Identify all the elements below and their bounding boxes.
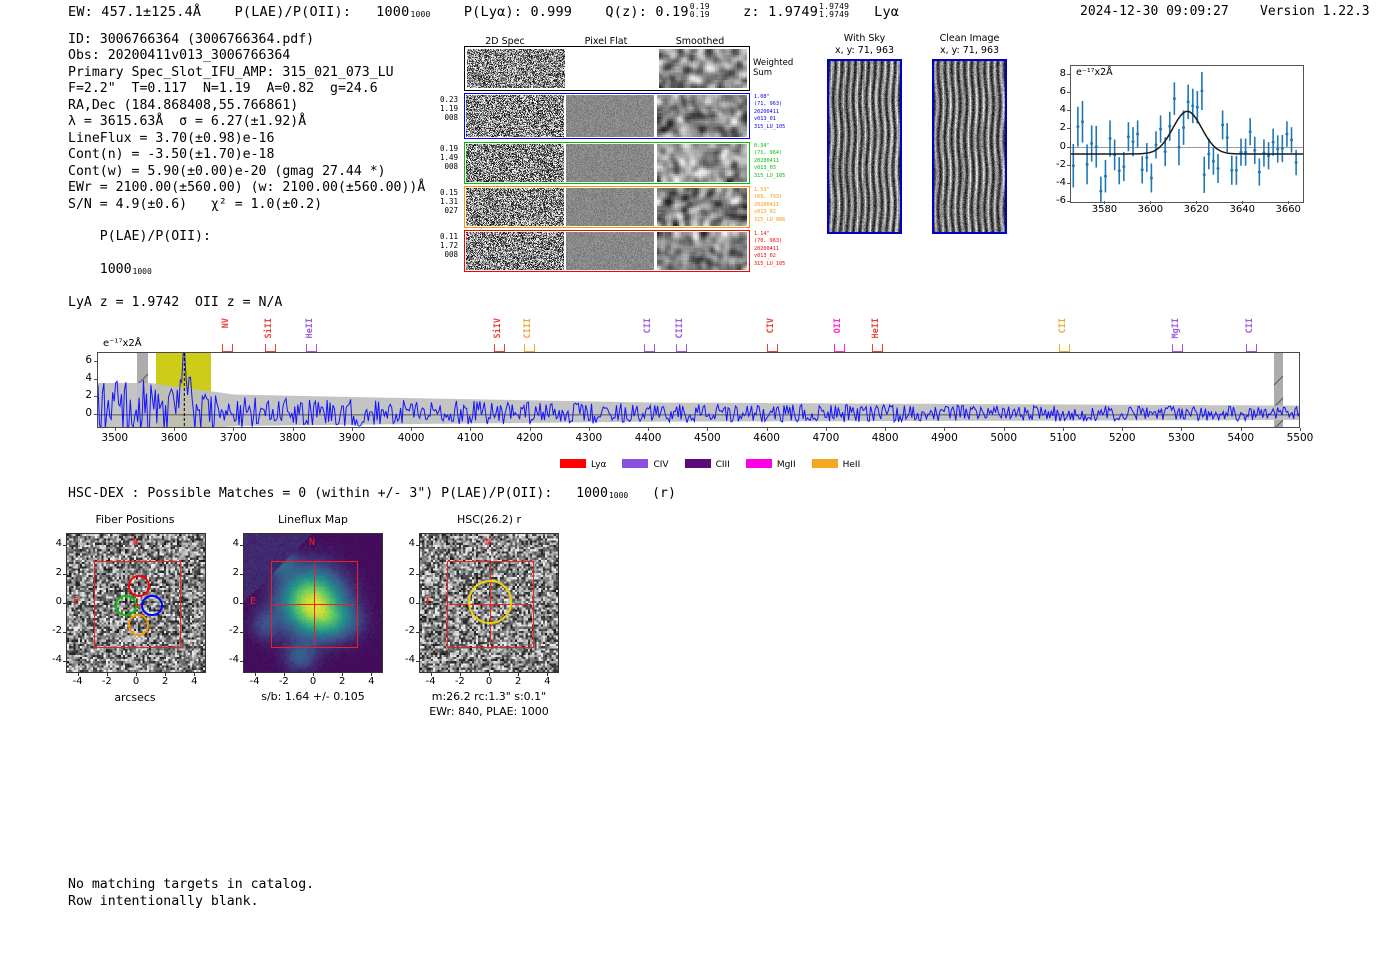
header-plae-label: P(LAE)/P(OII): bbox=[235, 4, 352, 20]
hscdex-filter: (r) bbox=[652, 486, 676, 501]
emission-line-label-SiII-1: SiII bbox=[264, 318, 274, 338]
hscdex-title-text: HSC-DEX : Possible Matches = 0 (within +… bbox=[68, 486, 552, 501]
info-plae-line: P(LAE)/P(OII): 10001000 bbox=[68, 213, 425, 295]
header-z-lo: 1.9749 bbox=[819, 10, 849, 19]
line-fit-ytick--6: -6 bbox=[1048, 195, 1066, 206]
info-plae-value: 1000 bbox=[100, 262, 132, 277]
spectrum-xtick-4600: 4600 bbox=[745, 432, 789, 444]
sky-panel-1-title: Clean Image bbox=[897, 33, 1042, 44]
spectrum-xtick-5000: 5000 bbox=[982, 432, 1026, 444]
cutout-0-xtick-0: 0 bbox=[124, 676, 148, 687]
fiber-circle-1 bbox=[115, 595, 137, 617]
hscdex-plae-value: 1000 bbox=[576, 486, 608, 501]
emission-line-label-HeII-9: HeII bbox=[871, 318, 881, 338]
emission-line-label-SiIV-3: SiIV bbox=[493, 318, 503, 338]
header-plae-value: 1000 bbox=[376, 4, 409, 20]
legend-label-MgII: MgII bbox=[777, 460, 796, 470]
cutout-1-east-label: E bbox=[250, 596, 256, 607]
line-fit-ytick--2: -2 bbox=[1048, 159, 1066, 170]
emission-line-label-MgII-11: MgII bbox=[1171, 318, 1181, 338]
cutout-1-xtick--4: -4 bbox=[243, 676, 267, 687]
spectrum-xtick-3600: 3600 bbox=[152, 432, 196, 444]
legend-item-HeII: HeII bbox=[812, 459, 861, 470]
legend-item-MgII: MgII bbox=[746, 459, 796, 470]
header-qz-lo: 0.19 bbox=[690, 10, 710, 19]
emission-line-label-CIV-7: CIV bbox=[766, 318, 776, 333]
emission-line-label-CIII-6: CIII bbox=[675, 318, 685, 338]
info-line-2: Primary Spec_Slot_IFU_AMP: 315_021_073_L… bbox=[68, 65, 425, 81]
cutout-2-east-label: E bbox=[426, 596, 432, 607]
line-fit-axes bbox=[1070, 65, 1304, 203]
info-line-4: RA,Dec (184.868408,55.766861) bbox=[68, 98, 425, 114]
legend-label-HeII: HeII bbox=[843, 460, 861, 470]
sky-panel-0-image bbox=[827, 59, 902, 234]
cutout-1-footer-0: s/b: 1.64 +/- 0.105 bbox=[213, 690, 413, 703]
spectrum-ytick-6: 6 bbox=[73, 354, 92, 366]
spec2d-row-2-info: 1.53"(69, 793)20200411v013_02315_LU_086 bbox=[754, 187, 812, 224]
cutout-1-ytick-0: 0 bbox=[221, 596, 239, 607]
info-plae-label: P(LAE)/P(OII): bbox=[100, 229, 211, 244]
emission-line-bracket-5 bbox=[644, 344, 655, 352]
line-fit-data bbox=[1071, 66, 1303, 202]
line-fit-ytick--4: -4 bbox=[1048, 177, 1066, 188]
spec2d-row-0-info: 1.08"(71, 963)20200411v013_01315_LU_105 bbox=[754, 94, 812, 131]
weighted-sum-strip bbox=[464, 46, 750, 91]
legend-item-CIII: CIII bbox=[685, 459, 730, 470]
sky-panel-1-coords: x, y: 71, 963 bbox=[897, 45, 1042, 56]
emission-line-bracket-1 bbox=[265, 344, 276, 352]
spec2d-row-1-info: 0.34"(71, 964)20200411v013_03315_LU_105 bbox=[754, 143, 812, 180]
cutout-0-xtick--4: -4 bbox=[66, 676, 90, 687]
cutout-1-ytick-4: 4 bbox=[221, 538, 239, 549]
cutout-2-footer-0: m:26.2 rc:1.3" s:0.1" bbox=[389, 690, 589, 703]
fiber-circle-0 bbox=[128, 575, 150, 597]
cutout-1-xtick-4: 4 bbox=[359, 676, 383, 687]
cutout-1-ytick--2: -2 bbox=[221, 625, 239, 636]
cutout-2-xtick-0: 0 bbox=[477, 676, 501, 687]
emission-line-label-HeII-2: HeII bbox=[305, 318, 315, 338]
sky-panel-1-image bbox=[932, 59, 1007, 234]
legend-swatch-CIV bbox=[622, 459, 648, 468]
spec2d-row-3-stats: 0.111.72008 bbox=[416, 232, 458, 260]
emission-line-label-CII-12: CII bbox=[1245, 318, 1255, 333]
cutout-0-ytick-4: 4 bbox=[44, 538, 62, 549]
spec2d-row-2 bbox=[464, 186, 750, 228]
cutout-0-image: NE bbox=[66, 533, 206, 673]
info-line-3: F=2.2" T=0.117 N=1.19 A=0.82 g=24.6 bbox=[68, 81, 425, 97]
emission-line-label-OII-8: OII bbox=[833, 318, 843, 333]
spectrum-ytick-0: 0 bbox=[73, 407, 92, 419]
header-qz: Q(z): 0.19 bbox=[605, 4, 688, 20]
line-fit-ytick-8: 8 bbox=[1048, 68, 1066, 79]
info-line-8: Cont(w) = 5.90(±0.00)e-20 (gmag 27.44 *) bbox=[68, 164, 425, 180]
emission-line-bracket-12 bbox=[1246, 344, 1257, 352]
timestamp: 2024-12-30 09:09:27 bbox=[1080, 4, 1229, 19]
cutout-0-xtick-4: 4 bbox=[182, 676, 206, 687]
bottom-note: No matching targets in catalog. Row inte… bbox=[68, 876, 314, 910]
cutout-1-title: Lineflux Map bbox=[223, 513, 403, 526]
emission-line-bracket-9 bbox=[872, 344, 883, 352]
spectrum-xtick-4800: 4800 bbox=[863, 432, 907, 444]
spectrum-xtick-3900: 3900 bbox=[330, 432, 374, 444]
spectrum-xtick-3700: 3700 bbox=[211, 432, 255, 444]
spectrum-legend: LyαCIVCIIIMgIIHeII bbox=[560, 452, 876, 471]
spectrum-xtick-5100: 5100 bbox=[1041, 432, 1085, 444]
cutout-2-ytick-4: 4 bbox=[397, 538, 415, 549]
line-fit-xtick-3640: 3640 bbox=[1224, 204, 1260, 215]
cutout-1-ytick--4: -4 bbox=[221, 654, 239, 665]
line-fit-unit-label: e⁻¹⁷x2Å bbox=[1076, 67, 1113, 78]
spectrum-xtick-4400: 4400 bbox=[626, 432, 670, 444]
emission-line-bracket-11 bbox=[1172, 344, 1183, 352]
line-fit-ytick-0: 0 bbox=[1048, 141, 1066, 152]
cutout-1-xtick-2: 2 bbox=[330, 676, 354, 687]
spectrum-xtick-4200: 4200 bbox=[508, 432, 552, 444]
emission-line-bracket-10 bbox=[1059, 344, 1070, 352]
header-line-id: Lyα bbox=[874, 4, 899, 20]
cutout-2-xtick-2: 2 bbox=[506, 676, 530, 687]
spectrum-xtick-3500: 3500 bbox=[93, 432, 137, 444]
legend-label-Lyα: Lyα bbox=[591, 460, 606, 470]
line-fit-xtick-3620: 3620 bbox=[1178, 204, 1214, 215]
cutout-0-ytick-0: 0 bbox=[44, 596, 62, 607]
cutout-0-ytick-2: 2 bbox=[44, 567, 62, 578]
header-plya: P(Lyα): 0.999 bbox=[464, 4, 572, 20]
spectrum-xtick-4100: 4100 bbox=[448, 432, 492, 444]
emission-line-bracket-0 bbox=[222, 344, 233, 352]
cutout-0-east-label: E bbox=[73, 596, 79, 607]
info-line-6: LineFlux = 3.70(±0.98)e-16 bbox=[68, 131, 425, 147]
legend-swatch-CIII bbox=[685, 459, 711, 468]
info-line-10: S/N = 4.9(±0.6) χ² = 1.0(±0.2) bbox=[68, 197, 425, 213]
spec2d-row-0 bbox=[464, 93, 750, 139]
cutout-0-title: Fiber Positions bbox=[45, 513, 225, 526]
cutout-2-xtick--4: -4 bbox=[419, 676, 443, 687]
spec2d-row-3 bbox=[464, 230, 750, 272]
cutout-2-north-label: N bbox=[485, 537, 491, 548]
cutout-1-xtick--2: -2 bbox=[272, 676, 296, 687]
spectrum-xtick-4000: 4000 bbox=[389, 432, 433, 444]
spectrum-xtick-5400: 5400 bbox=[1219, 432, 1263, 444]
emission-line-label-CII-5: CII bbox=[643, 318, 653, 333]
spec2d-row-1 bbox=[464, 142, 750, 184]
spectrum-ytick-2: 2 bbox=[73, 389, 92, 401]
line-fit-ytick-6: 6 bbox=[1048, 86, 1066, 97]
header-ew: EW: 457.1±125.4Å bbox=[68, 4, 201, 20]
cutout-1-ytick-2: 2 bbox=[221, 567, 239, 578]
bottom-note-line-0: No matching targets in catalog. bbox=[68, 876, 314, 893]
spectrum-unit-label: e⁻¹⁷x2Å bbox=[103, 338, 142, 349]
header-z: z: 1.9749 bbox=[743, 4, 818, 20]
cutout-2-ytick-0: 0 bbox=[397, 596, 415, 607]
legend-item-Lyα: Lyα bbox=[560, 459, 606, 470]
spectrum-xtick-4500: 4500 bbox=[685, 432, 729, 444]
emission-line-label-CII-10: CII bbox=[1058, 318, 1068, 333]
hsc-aperture-circle bbox=[468, 580, 511, 623]
line-fit-xtick-3580: 3580 bbox=[1086, 204, 1122, 215]
spectrum-xtick-5200: 5200 bbox=[1100, 432, 1144, 444]
spectrum-xtick-5500: 5500 bbox=[1278, 432, 1322, 444]
line-fit-plot: -6-4-20246835803600362036403660e⁻¹⁷x2Å bbox=[1036, 57, 1308, 229]
line-fit-ytick-4: 4 bbox=[1048, 104, 1066, 115]
cutout-0-north-label: N bbox=[132, 537, 138, 548]
cutout-2-ytick--4: -4 bbox=[397, 654, 415, 665]
header-timestamp-block: 2024-12-30 09:09:27 Version 1.22.3 bbox=[1080, 4, 1370, 19]
info-line-1: Obs: 20200411v013_3006766364 bbox=[68, 48, 425, 64]
cutout-1-north-label: N bbox=[309, 537, 315, 548]
cutout-0-ytick--4: -4 bbox=[44, 654, 62, 665]
spec2d-row-3-info: 1.14"(70, 963)20200411v013_02315_LU_105 bbox=[754, 231, 812, 268]
detection-info-block: ID: 3006766364 (3006766364.pdf) Obs: 202… bbox=[68, 32, 425, 312]
legend-swatch-MgII bbox=[746, 459, 772, 468]
cutout-2-ytick--2: -2 bbox=[397, 625, 415, 636]
emission-line-bracket-8 bbox=[834, 344, 845, 352]
header-plae-sub: 1000 bbox=[410, 10, 430, 19]
cutout-2-xtick--2: -2 bbox=[448, 676, 472, 687]
spec2d-row-0-stats: 0.231.19008 bbox=[416, 95, 458, 123]
line-fit-xtick-3600: 3600 bbox=[1132, 204, 1168, 215]
legend-swatch-Lyα bbox=[560, 459, 586, 468]
spectrum-ytick-4: 4 bbox=[73, 372, 92, 384]
spectrum-xtick-3800: 3800 bbox=[271, 432, 315, 444]
emission-line-label-NV-0: NV bbox=[221, 318, 231, 328]
header-summary-line: EW: 457.1±125.4Å P(LAE)/P(OII): 10001000… bbox=[68, 3, 899, 20]
cutout-1-xtick-0: 0 bbox=[301, 676, 325, 687]
version-label: Version 1.22.3 bbox=[1260, 4, 1370, 19]
cutout-2-ytick-2: 2 bbox=[397, 567, 415, 578]
cutout-2-xtick-4: 4 bbox=[535, 676, 559, 687]
cutout-0-xtick-2: 2 bbox=[153, 676, 177, 687]
emission-line-bracket-2 bbox=[306, 344, 317, 352]
spectrum-xtick-4700: 4700 bbox=[804, 432, 848, 444]
legend-swatch-HeII bbox=[812, 459, 838, 468]
legend-item-CIV: CIV bbox=[622, 459, 668, 470]
info-line-9: EWr = 2100.00(±560.00) (w: 2100.00(±560.… bbox=[68, 180, 425, 196]
bottom-note-line-1: Row intentionally blank. bbox=[68, 893, 314, 910]
spectrum-xtick-5300: 5300 bbox=[1159, 432, 1203, 444]
line-fit-ytick-2: 2 bbox=[1048, 122, 1066, 133]
hscdex-title: HSC-DEX : Possible Matches = 0 (within +… bbox=[68, 486, 676, 501]
cutout-2-image: NE bbox=[419, 533, 559, 673]
info-line-7: Cont(n) = -3.50(±1.70)e-18 bbox=[68, 147, 425, 163]
full-spectrum-plot bbox=[97, 352, 1300, 428]
info-line-0: ID: 3006766364 (3006766364.pdf) bbox=[68, 32, 425, 48]
cutout-0-ytick--2: -2 bbox=[44, 625, 62, 636]
info-plae-sub: 1000 bbox=[133, 267, 152, 276]
cutout-0-xtick--2: -2 bbox=[95, 676, 119, 687]
cutout-0-xlabel: arcsecs bbox=[65, 691, 205, 704]
line-fit-xtick-3660: 3660 bbox=[1270, 204, 1306, 215]
cutout-2-footer-1: EWr: 840, PLAE: 1000 bbox=[389, 705, 589, 718]
fiber-circle-2 bbox=[141, 595, 163, 617]
spectrum-trace bbox=[98, 353, 1300, 428]
legend-label-CIV: CIV bbox=[653, 460, 668, 470]
spec2d-row-2-stats: 0.151.31027 bbox=[416, 188, 458, 216]
cutout-1-image: NE bbox=[243, 533, 383, 673]
emission-line-bracket-3 bbox=[494, 344, 505, 352]
emission-line-bracket-6 bbox=[676, 344, 687, 352]
cutout-2-title: HSC(26.2) r bbox=[399, 513, 579, 526]
weighted-sum-label: Weighted Sum bbox=[753, 58, 793, 78]
info-line-5: λ = 3615.63Å σ = 6.27(±1.92)Å bbox=[68, 114, 425, 130]
spectrum-xtick-4900: 4900 bbox=[922, 432, 966, 444]
emission-line-bracket-4 bbox=[524, 344, 535, 352]
spec2d-row-1-stats: 0.191.49008 bbox=[416, 144, 458, 172]
emission-line-bracket-7 bbox=[767, 344, 778, 352]
emission-line-label-CIII-4: CIII bbox=[523, 318, 533, 338]
spectrum-xtick-4300: 4300 bbox=[567, 432, 611, 444]
info-z-line: LyA z = 1.9742 OII z = N/A bbox=[68, 295, 425, 311]
hscdex-plae-sub: 1000 bbox=[609, 491, 628, 500]
legend-label-CIII: CIII bbox=[716, 460, 730, 470]
